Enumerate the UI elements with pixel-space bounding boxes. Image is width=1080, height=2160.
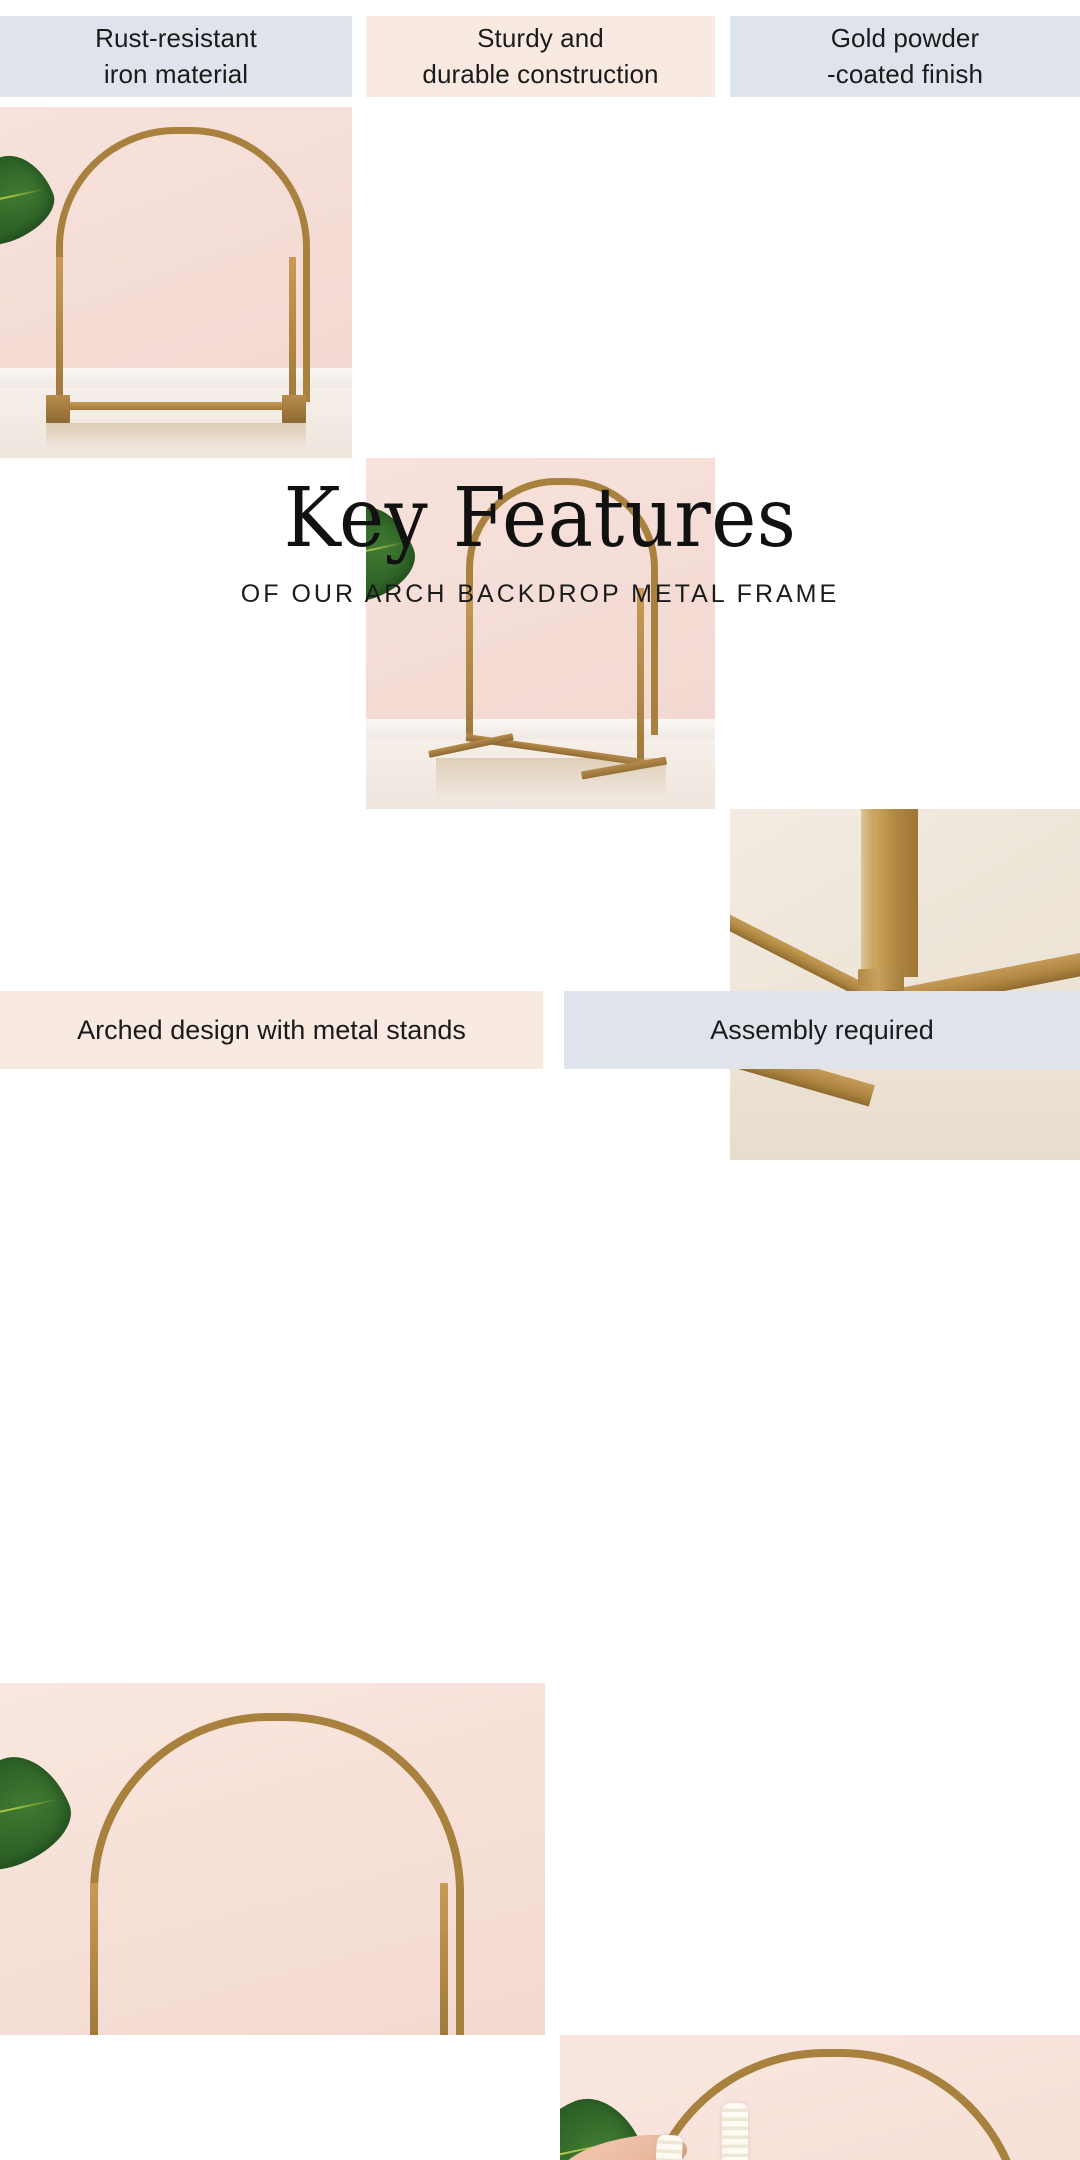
arch-frame (90, 1713, 464, 2035)
vertical-post (861, 809, 918, 977)
arch-leg-left (56, 257, 63, 398)
page-subtitle: OF OUR ARCH BACKDROP METAL FRAME (0, 580, 1080, 609)
post-highlight (861, 809, 874, 977)
arch-foot-right (282, 395, 306, 423)
arch-leg-right (637, 588, 644, 760)
bottom-caption-bar-2: Assembly required (564, 991, 1080, 1069)
arch-frame (56, 127, 310, 402)
product-photo-arch-closeup (0, 1683, 545, 2035)
top-caption-bar-1: Rust-resistant iron material (0, 16, 352, 97)
product-photo-assembly (560, 2035, 1080, 2160)
arch-foot-left (46, 395, 70, 423)
product-photo-bolt-detail (730, 809, 1080, 1160)
top-caption-bar-2: Sturdy and durable construction (366, 16, 715, 97)
arch-leg-left (90, 1883, 98, 2035)
arch-bottom-rail (56, 402, 296, 410)
floor-reflection (436, 758, 666, 798)
arch-leg-right (440, 1883, 448, 2035)
arch-leg-right (289, 257, 296, 398)
garland-center (722, 2103, 748, 2160)
page-title: Key Features (38, 478, 1042, 560)
headline-block: Key Features OF OUR ARCH BACKDROP METAL … (0, 478, 1080, 609)
arch-leg-left (466, 588, 473, 733)
infographic-canvas: Rust-resistant iron material Sturdy and … (0, 0, 1080, 1080)
bottom-caption-bar-1: Arched design with metal stands (0, 991, 543, 1069)
floor-reflection (46, 423, 306, 449)
product-photo-front-arch (0, 107, 352, 458)
top-caption-bar-3: Gold powder -coated finish (730, 16, 1080, 97)
